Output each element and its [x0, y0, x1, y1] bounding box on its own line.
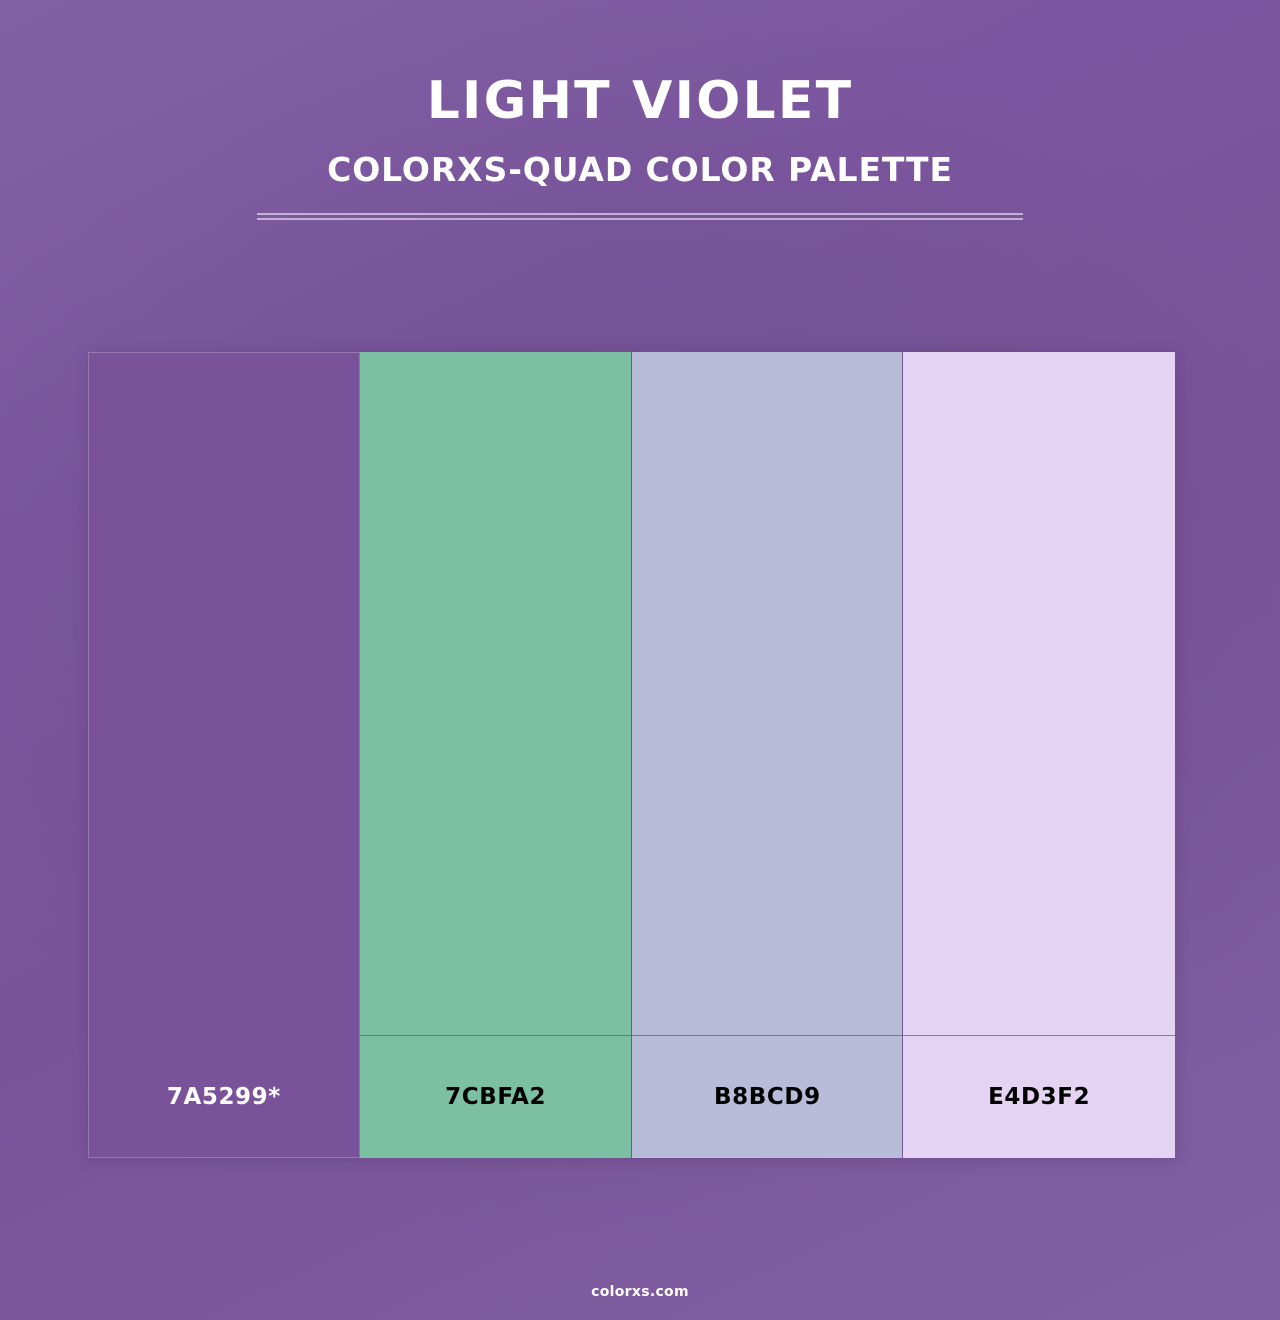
- footer: colorxs.com: [0, 1281, 1280, 1300]
- header: LIGHT VIOLET COLORXS-QUAD COLOR PALETTE: [0, 0, 1280, 220]
- footer-site-label: colorxs.com: [591, 1284, 689, 1300]
- swatch-hex-label-4: E4D3F2: [988, 1084, 1090, 1110]
- swatch-column-2[interactable]: 7CBFA2: [360, 352, 632, 1158]
- color-swatch-4[interactable]: [903, 352, 1175, 1035]
- swatch-hex-label-2: 7CBFA2: [445, 1084, 546, 1110]
- color-swatch-3[interactable]: [632, 352, 904, 1035]
- swatch-column-1[interactable]: 7A5299*: [88, 352, 360, 1158]
- color-palette-board: 7A5299*7CBFA2B8BCD9E4D3F2: [88, 352, 1175, 1158]
- swatch-column-4[interactable]: E4D3F2: [903, 352, 1175, 1158]
- swatch-hex-label-3: B8BCD9: [714, 1084, 821, 1110]
- header-divider: [257, 213, 1023, 220]
- swatch-label-cell-4[interactable]: E4D3F2: [903, 1035, 1175, 1158]
- swatch-column-3[interactable]: B8BCD9: [632, 352, 904, 1158]
- color-swatch-1[interactable]: [88, 352, 360, 1035]
- page-subtitle: COLORXS-QUAD COLOR PALETTE: [0, 129, 1280, 188]
- color-swatch-2[interactable]: [360, 352, 632, 1035]
- swatch-label-cell-3[interactable]: B8BCD9: [632, 1035, 904, 1158]
- swatch-label-cell-2[interactable]: 7CBFA2: [360, 1035, 632, 1158]
- page-title: LIGHT VIOLET: [0, 0, 1280, 129]
- swatch-hex-label-1: 7A5299*: [167, 1084, 281, 1110]
- swatch-label-cell-1[interactable]: 7A5299*: [88, 1035, 360, 1158]
